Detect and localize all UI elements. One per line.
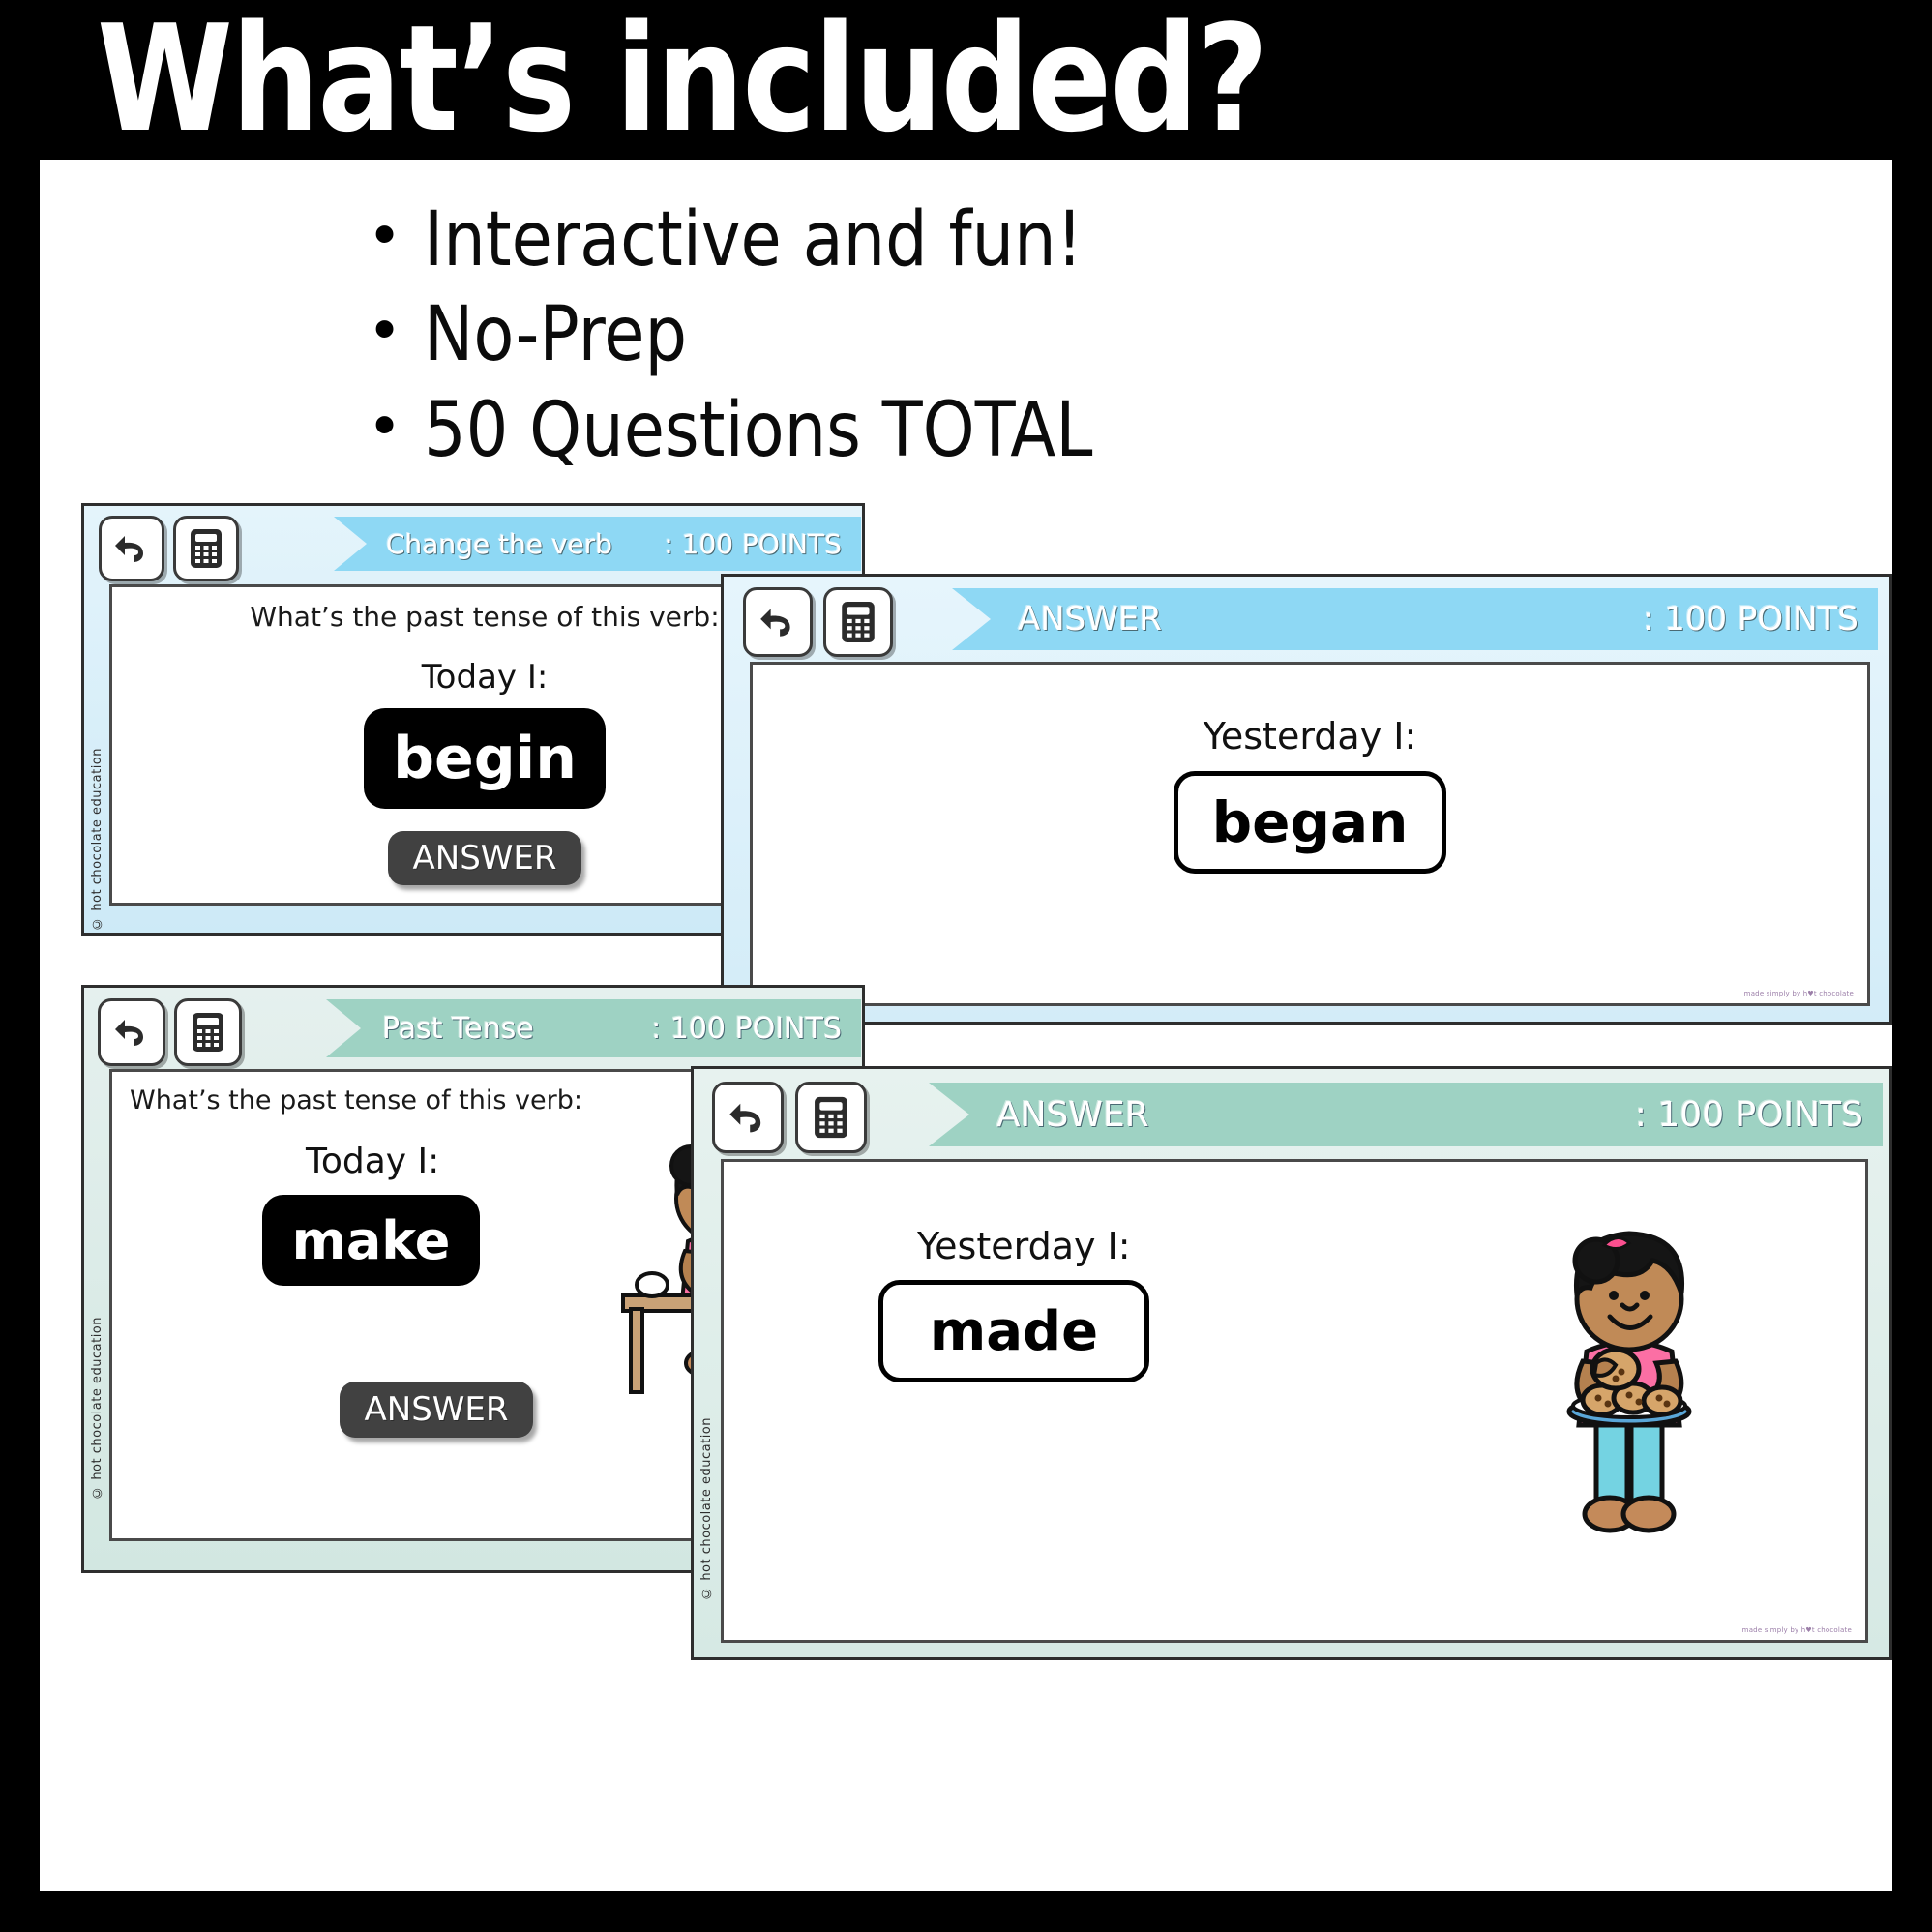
undo-arrow-icon[interactable] — [98, 998, 165, 1066]
feature-bullet-list: • Interactive and fun! • No-Prep • 50 Qu… — [373, 203, 1728, 489]
answer-chip: began — [1174, 771, 1446, 874]
bullet-marker-icon: • — [373, 394, 424, 455]
tense-label: Today I: — [306, 1142, 439, 1181]
list-item: • 50 Questions TOTAL — [373, 394, 1728, 467]
slide-body: • Interactive and fun! • No-Prep • 50 Qu… — [40, 160, 1892, 1891]
tense-label: Today I: — [422, 658, 549, 697]
undo-arrow-icon[interactable] — [743, 587, 813, 657]
tense-label: Yesterday I: — [1204, 715, 1417, 758]
banner-points: : 100 POINTS — [664, 528, 842, 560]
banner-change-the-verb: Change the verb : 100 POINTS — [334, 517, 861, 571]
calculator-icon[interactable] — [173, 516, 239, 581]
tense-label: Yesterday I: — [917, 1225, 1131, 1267]
card-inner-panel: Yesterday I: began made simply by h♥t ch… — [750, 662, 1870, 1006]
verb-chip: begin — [364, 708, 606, 809]
bullet-label: Interactive and fun! — [424, 203, 1083, 277]
girl-holding-cookie-plate-clipart — [1507, 1191, 1749, 1578]
calculator-icon[interactable] — [823, 587, 893, 657]
bullet-label: 50 Questions TOTAL — [424, 394, 1093, 467]
answer-card-green[interactable]: ANSWER : 100 POINTS © hot chocolate educ… — [691, 1066, 1892, 1660]
banner-title: ANSWER — [996, 1095, 1149, 1135]
calculator-icon[interactable] — [795, 1082, 867, 1153]
calculator-icon[interactable] — [174, 998, 242, 1066]
undo-arrow-icon[interactable] — [99, 516, 164, 581]
banner-title: Past Tense — [382, 1012, 534, 1046]
credit-text: made simply by h♥t chocolate — [1742, 1626, 1852, 1634]
page-title: What’s included? — [97, 6, 1266, 153]
banner-answer: ANSWER : 100 POINTS — [952, 588, 1878, 650]
answer-card-blue[interactable]: ANSWER : 100 POINTS Yesterday I: began m… — [721, 574, 1892, 1025]
question-prompt: What’s the past tense of this verb: — [130, 1085, 582, 1115]
bullet-marker-icon: • — [373, 203, 424, 264]
banner-points: : 100 POINTS — [1635, 1095, 1863, 1135]
banner-points: : 100 POINTS — [651, 1012, 842, 1046]
undo-arrow-icon[interactable] — [712, 1082, 784, 1153]
title-band: What’s included? — [0, 0, 1932, 160]
answer-button[interactable]: ANSWER — [340, 1382, 533, 1438]
banner-title: ANSWER — [1018, 600, 1162, 639]
banner-past-tense: Past Tense : 100 POINTS — [326, 999, 861, 1057]
list-item: • No-Prep — [373, 298, 1728, 372]
banner-title: Change the verb — [386, 528, 612, 560]
card-inner-panel: Yesterday I: made — [721, 1159, 1868, 1643]
question-prompt: What’s the past tense of this verb: — [250, 601, 719, 633]
list-item: • Interactive and fun! — [373, 203, 1728, 277]
credit-text: made simply by h♥t chocolate — [1744, 990, 1854, 997]
answer-button[interactable]: ANSWER — [388, 831, 581, 885]
answer-chip: made — [878, 1280, 1149, 1382]
watermark: © hot chocolate education — [90, 1317, 104, 1500]
banner-points: : 100 POINTS — [1643, 600, 1858, 639]
watermark: © hot chocolate education — [699, 1417, 714, 1600]
banner-answer: ANSWER : 100 POINTS — [929, 1083, 1883, 1146]
bullet-label: No-Prep — [424, 298, 687, 372]
bullet-marker-icon: • — [373, 298, 424, 359]
watermark: © hot chocolate education — [90, 748, 104, 931]
verb-chip: make — [262, 1195, 480, 1286]
